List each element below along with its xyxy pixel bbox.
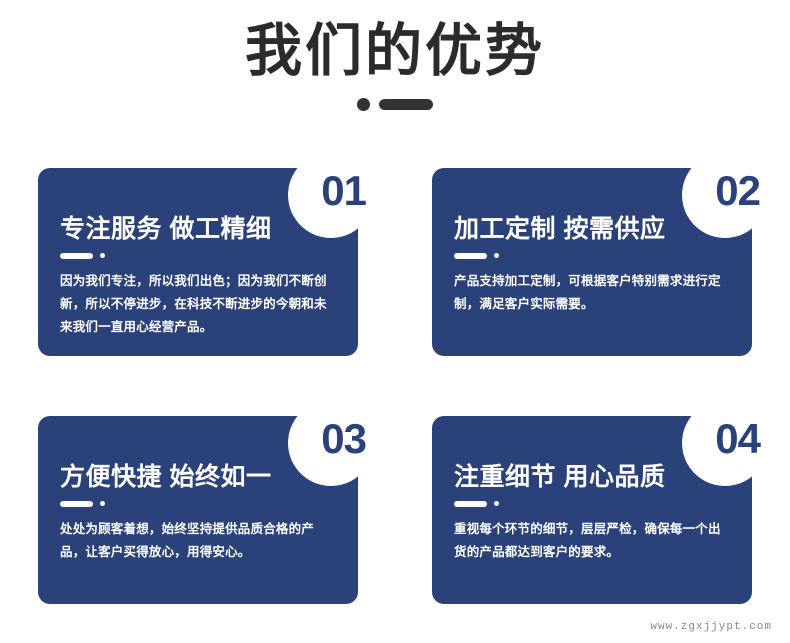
circle-dot-icon [100,501,105,506]
card-body: 加工定制 按需供应 产品支持加工定制，可根据客户特别需求进行定制，满足客户实际需… [432,168,752,316]
card-description: 产品支持加工定制，可根据客户特别需求进行定制，满足客户实际需要。 [454,270,722,316]
horizontal-bar-icon [454,501,487,507]
card-body: 专注服务 做工精细 因为我们专注，所以我们出色；因为我们不断创新，所以不停进步，… [38,168,358,339]
card-title: 方便快捷 始终如一 [60,464,336,492]
circle-dot-icon [100,253,105,258]
advantage-card-03[interactable]: 03 方便快捷 始终如一 处处为顾客着想，始终坚持提供品质合格的产品，让客户买得… [38,416,358,604]
page-header: 我们的优势 [0,0,790,111]
title-divider [0,98,790,111]
card-title: 加工定制 按需供应 [454,216,730,244]
site-watermark: www.zgxjjypt.com [650,621,772,633]
advantage-card-02[interactable]: 02 加工定制 按需供应 产品支持加工定制，可根据客户特别需求进行定制，满足客户… [432,168,752,356]
card-description: 处处为顾客着想，始终坚持提供品质合格的产品，让客户买得放心，用得安心。 [60,518,328,564]
horizontal-bar-icon [379,99,433,110]
page-title: 我们的优势 [0,22,790,82]
card-title: 专注服务 做工精细 [60,216,336,244]
advantage-card-01[interactable]: 01 专注服务 做工精细 因为我们专注，所以我们出色；因为我们不断创新，所以不停… [38,168,358,356]
card-description: 重视每个环节的细节，层层严检，确保每一个出货的产品都达到客户的要求。 [454,518,722,564]
horizontal-bar-icon [60,253,93,259]
horizontal-bar-icon [60,501,93,507]
card-divider [60,501,336,507]
circle-dot-icon [357,98,370,111]
circle-dot-icon [494,253,499,258]
card-body: 注重细节 用心品质 重视每个环节的细节，层层严检，确保每一个出货的产品都达到客户… [432,416,752,564]
card-description: 因为我们专注，所以我们出色；因为我们不断创新，所以不停进步，在科技不断进步的今朝… [60,270,328,339]
advantage-card-04[interactable]: 04 注重细节 用心品质 重视每个环节的细节，层层严检，确保每一个出货的产品都达… [432,416,752,604]
card-divider [454,501,730,507]
horizontal-bar-icon [454,253,487,259]
card-title: 注重细节 用心品质 [454,464,730,492]
card-body: 方便快捷 始终如一 处处为顾客着想，始终坚持提供品质合格的产品，让客户买得放心，… [38,416,358,564]
advantage-card-grid: 01 专注服务 做工精细 因为我们专注，所以我们出色；因为我们不断创新，所以不停… [38,168,752,604]
card-divider [60,253,336,259]
circle-dot-icon [494,501,499,506]
card-divider [454,253,730,259]
